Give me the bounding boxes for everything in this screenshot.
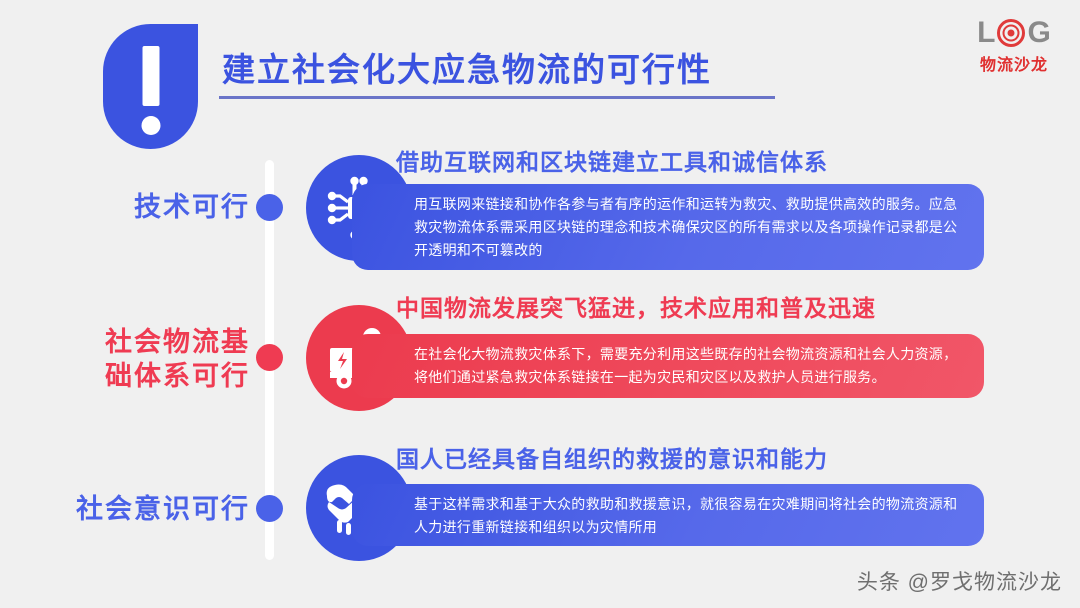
card-title-2: 中国物流发展突飞猛进，技术应用和普及迅速: [396, 289, 876, 323]
sidebar-item-label-3: 社会意识可行: [76, 492, 250, 526]
sidebar-item-label-2: 社会物流基 础体系可行: [105, 325, 250, 393]
page-title: 建立社会化大应急物流的可行性: [222, 43, 712, 91]
target-rings-icon: [997, 19, 1025, 47]
side-label-wrap-1: 技术可行: [0, 190, 250, 230]
exclamation-bar: [142, 46, 159, 106]
exclamation-dot: [141, 116, 160, 135]
card-body-2: 在社会化大物流救灾体系下，需要充分利用这些既存的社会物流资源和社会人力资源，将他…: [352, 334, 984, 398]
title-underline: [219, 96, 775, 99]
side-label-wrap-2: 社会物流基 础体系可行: [0, 325, 250, 395]
timeline-dot-3: [256, 495, 283, 522]
side-label-wrap-3: 社会意识可行: [0, 492, 250, 532]
logo-chinese-name: 物流沙龙: [962, 51, 1066, 75]
brand-logo: L G 物流沙龙: [962, 16, 1066, 78]
timeline-dot-1: [256, 194, 283, 221]
slide-canvas: 建立社会化大应急物流的可行性 L G 物流沙龙 技术可行: [0, 0, 1080, 608]
sidebar-item-label-1: 技术可行: [134, 190, 250, 224]
logo-letter-l: L: [977, 18, 995, 48]
logo-letter-g: G: [1027, 18, 1050, 48]
exclamation-pin-icon: [103, 24, 198, 149]
card-body-1: 用互联网来链接和协作各参与者有序的运作和运转为救灾、救助提供高效的服务。应急救灾…: [352, 184, 984, 270]
card-body-3: 基于这样需求和基于大众的救助和救援意识，就很容易在灾难期间将社会的物流资源和人力…: [352, 484, 984, 546]
timeline-dot-2: [256, 344, 283, 371]
watermark: 头条 @罗戈物流沙龙: [857, 566, 1062, 596]
logo-wordmark: L G: [962, 16, 1066, 50]
card-title-3: 国人已经具备自组织的救援的意识和能力: [396, 440, 828, 474]
card-title-1: 借助互联网和区块链建立工具和诚信体系: [396, 143, 828, 177]
